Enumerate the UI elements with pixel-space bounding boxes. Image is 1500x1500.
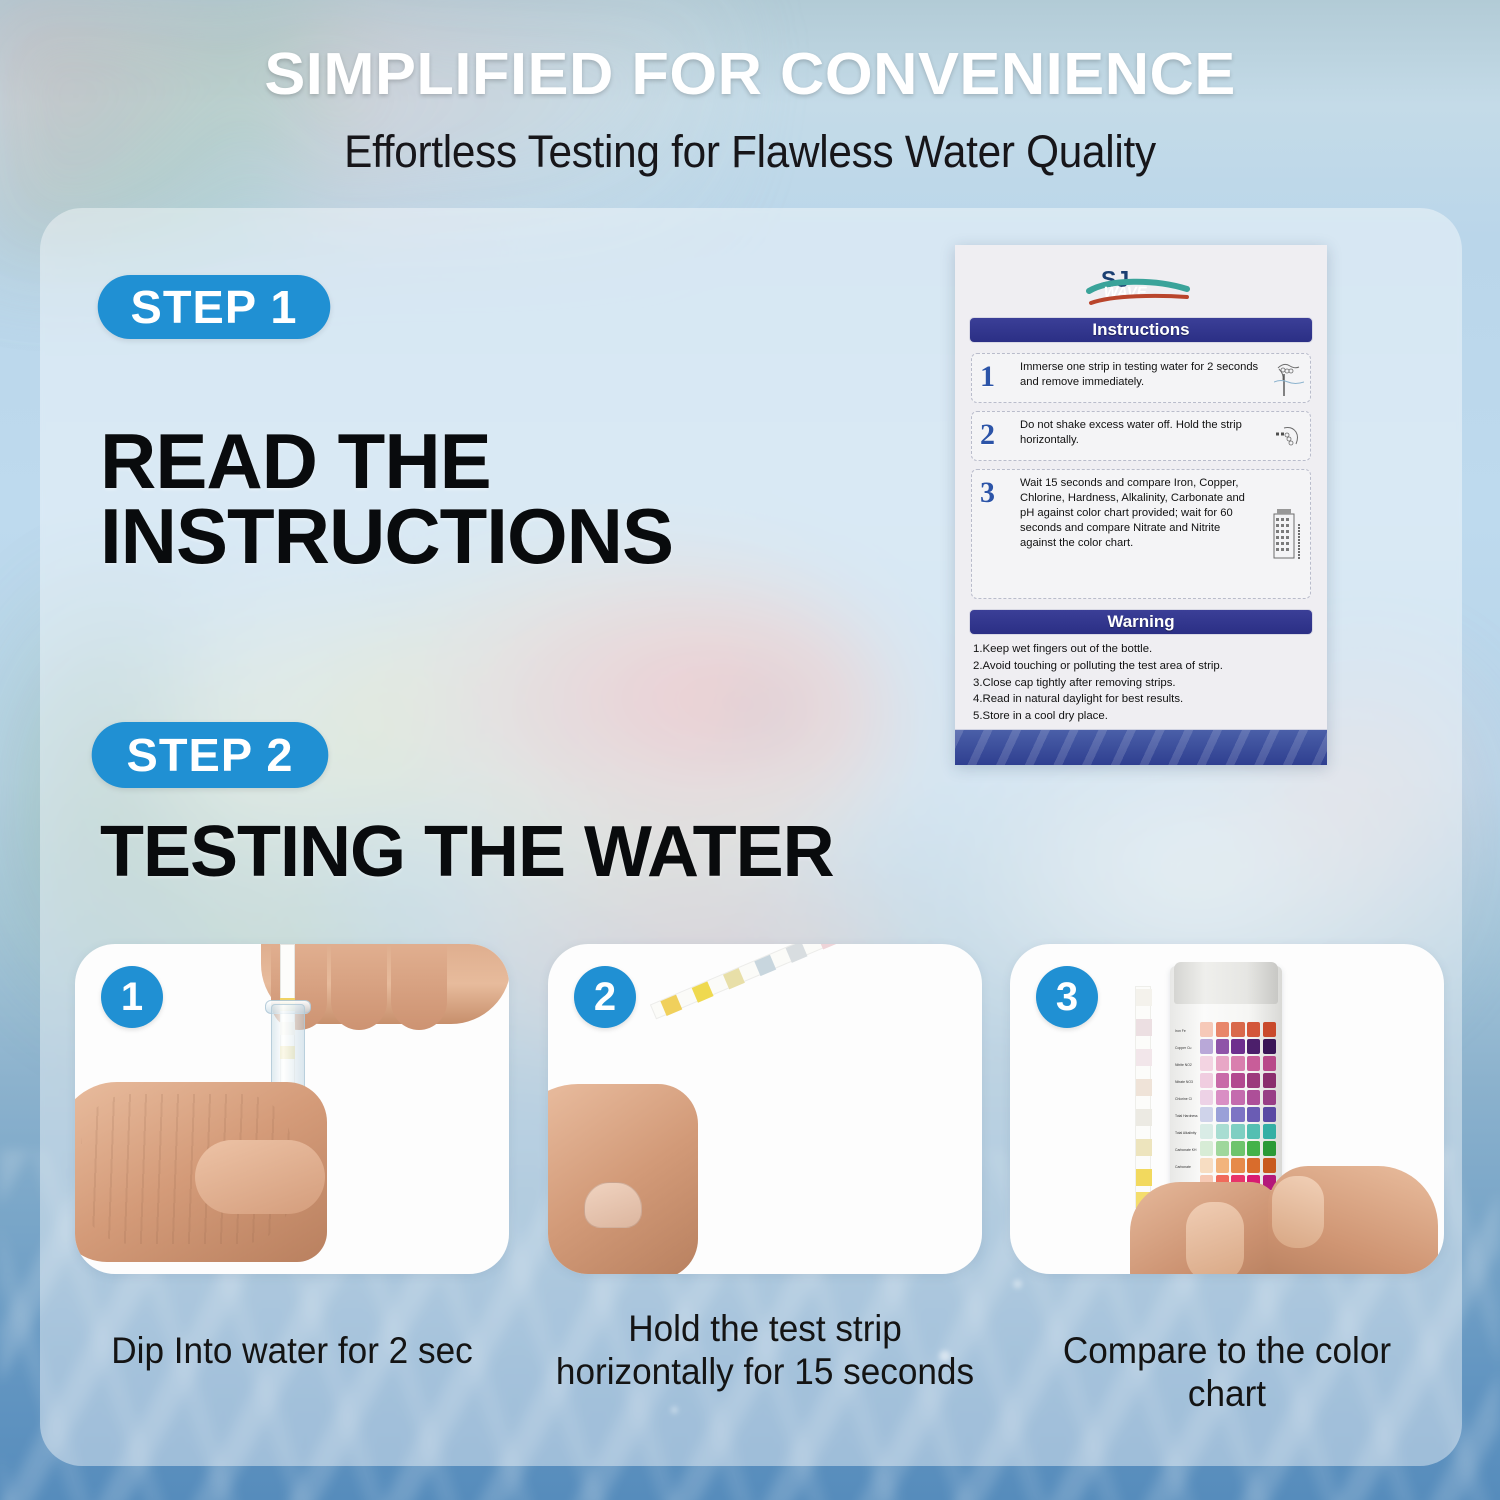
panel-2-strip-pad <box>660 995 682 1016</box>
instruction-item-1: 1 Immerse one strip in testing water for… <box>971 353 1311 403</box>
panel-3-chart-row <box>1200 1090 1276 1105</box>
warning-item: 5.Store in a cool dry place. <box>973 708 1313 725</box>
panel-3-chart-row-labels: Iron FeCopper CuNitrite NO2Nitrate NO3Ch… <box>1175 1024 1199 1192</box>
panel-3-chart-swatch <box>1216 1141 1229 1156</box>
panel-3-chart-swatch <box>1216 1124 1229 1139</box>
warning-item: 1.Keep wet fingers out of the bottle. <box>973 641 1313 658</box>
sj-wave-logo: SJ WAVE <box>1083 263 1193 311</box>
panel-3-left-thumb <box>1186 1202 1244 1274</box>
panel-1-thumb <box>195 1140 325 1214</box>
panel-3-chart-swatch <box>1216 1090 1229 1105</box>
panel-2-hand <box>548 1084 698 1274</box>
panel-3-chart-swatch <box>1231 1124 1244 1139</box>
panel-3-chart-row <box>1200 1141 1276 1156</box>
panel-1-finger <box>391 944 447 1030</box>
instruction-3-number: 3 <box>980 476 995 510</box>
panel-3-chart-row-label: Nitrite NO2 <box>1175 1058 1199 1073</box>
panel-3-chart-swatch <box>1231 1022 1244 1037</box>
panel-3-chart-swatch <box>1231 1073 1244 1088</box>
panel-3-chart-swatch <box>1231 1056 1244 1071</box>
photo-panel-2: 2 <box>548 944 982 1274</box>
panel-3-chart-row-label: Total Alkalinity <box>1175 1126 1199 1141</box>
panel-3-chart-swatch <box>1216 1039 1229 1054</box>
panel-3-chart-swatch <box>1216 1158 1229 1173</box>
panel-3-chart-swatch <box>1247 1039 1260 1054</box>
panel-3-test-strip <box>1135 986 1151 1208</box>
panel-3-chart-swatch <box>1200 1073 1213 1088</box>
panel-3-chart-row <box>1200 1107 1276 1122</box>
panel-3-chart-row-label: Copper Cu <box>1175 1041 1199 1056</box>
panel-3-chart-swatch <box>1231 1158 1244 1173</box>
step-1-badge: STEP 1 <box>98 275 331 339</box>
panel-2-caption: Hold the test strip horizontally for 15 … <box>551 1308 979 1394</box>
panel-3-chart-swatch <box>1247 1141 1260 1156</box>
leaflet-footer-band <box>955 729 1327 765</box>
panel-3-chart-swatch <box>1200 1039 1213 1054</box>
instruction-2-number: 2 <box>980 418 995 452</box>
instruction-3-text: Wait 15 seconds and compare Iron, Copper… <box>1020 476 1254 550</box>
panel-2-test-strip <box>650 944 951 1019</box>
panel-2-thumbnail <box>584 1182 642 1228</box>
panel-3-chart-swatch <box>1247 1124 1260 1139</box>
panel-3-chart-swatch <box>1231 1141 1244 1156</box>
instruction-1-number: 1 <box>980 360 995 394</box>
panel-3-chart-row <box>1200 1124 1276 1139</box>
panel-3-strip-pad <box>1136 1169 1152 1186</box>
warning-item: 4.Read in natural daylight for best resu… <box>973 691 1313 708</box>
panel-2-strip-pad <box>723 968 745 989</box>
panel-3-chart-swatch <box>1263 1056 1276 1071</box>
panel-1-finger <box>331 944 387 1030</box>
panel-3-caption: Compare to the color chart <box>1021 1330 1433 1416</box>
step-1-heading-line2: INSTRUCTIONS <box>100 499 673 574</box>
panel-3-chart-swatch <box>1247 1158 1260 1173</box>
panel-3-chart-swatch <box>1263 1039 1276 1054</box>
panel-1-number: 1 <box>101 966 163 1028</box>
panel-3-chart-row-label: Nitrate NO3 <box>1175 1075 1199 1090</box>
warning-item: 3.Close cap tightly after removing strip… <box>973 675 1313 692</box>
panel-3-chart-swatch <box>1231 1039 1244 1054</box>
step-2-heading: TESTING THE WATER <box>100 818 834 887</box>
panel-3-chart-swatch <box>1263 1141 1276 1156</box>
panel-3-chart-swatch <box>1200 1141 1213 1156</box>
panel-3-chart-swatch <box>1247 1090 1260 1105</box>
panel-3-chart-row <box>1200 1056 1276 1071</box>
panel-3-chart-row-label: Chlorine Cl <box>1175 1092 1199 1107</box>
panel-3-strip-pad <box>1136 1109 1152 1126</box>
panel-3-chart-swatch <box>1231 1107 1244 1122</box>
instruction-2-text: Do not shake excess water off. Hold the … <box>1020 418 1276 448</box>
panel-3-chart-swatch <box>1247 1056 1260 1071</box>
panel-3-strip-pad <box>1136 1139 1152 1156</box>
hand-holding-strip-icon <box>1274 418 1304 458</box>
panel-3-chart-row <box>1200 1039 1276 1054</box>
photo-panel-1: 1 <box>75 944 509 1274</box>
panel-3-chart-swatch <box>1200 1056 1213 1071</box>
panel-3-chart-swatch <box>1263 1124 1276 1139</box>
panel-3-strip-pad <box>1136 1049 1152 1066</box>
panel-3-chart-swatch <box>1247 1073 1260 1088</box>
warning-header: Warning <box>969 609 1313 635</box>
panel-3-chart-swatch <box>1247 1022 1260 1037</box>
panel-3-chart-swatch <box>1247 1107 1260 1122</box>
header-banner: SIMPLIFIED FOR CONVENIENCE <box>0 30 1500 118</box>
photo-panel-3: 3 Iron FeCopper CuNitrite NO2Nitrate NO3… <box>1010 944 1444 1274</box>
panel-3-chart-swatch <box>1263 1022 1276 1037</box>
panel-3-chart-swatch <box>1200 1090 1213 1105</box>
instruction-item-2: 2 Do not shake excess water off. Hold th… <box>971 411 1311 461</box>
panel-3-strip-pad <box>1136 1019 1152 1036</box>
panel-3-chart-row-label: Total Hardness <box>1175 1109 1199 1124</box>
panel-3-chart-swatch <box>1200 1158 1213 1173</box>
panel-3-chart-row <box>1200 1073 1276 1088</box>
panel-3-chart-swatch <box>1200 1124 1213 1139</box>
panel-2-strip-pad <box>817 944 839 950</box>
panel-3-number: 3 <box>1036 966 1098 1028</box>
panel-2-strip-pad <box>754 955 776 976</box>
panel-3-chart-swatch <box>1216 1022 1229 1037</box>
panel-3-chart-row-label: Iron Fe <box>1175 1024 1199 1039</box>
panel-3-strip-pad <box>1136 1079 1152 1096</box>
page-title: SIMPLIFIED FOR CONVENIENCE <box>264 40 1236 108</box>
step-2-badge: STEP 2 <box>92 722 329 788</box>
panel-1-caption: Dip Into water for 2 sec <box>86 1330 498 1373</box>
page-subtitle: Effortless Testing for Flawless Water Qu… <box>45 126 1455 178</box>
panel-3-chart-row <box>1200 1158 1276 1173</box>
panel-3-chart-swatch <box>1216 1107 1229 1122</box>
panel-3-chart-swatch <box>1200 1107 1213 1122</box>
panel-2-strip-pad <box>786 944 808 963</box>
warning-item: 2.Avoid touching or polluting the test a… <box>973 658 1313 675</box>
panel-3-chart-swatch <box>1263 1090 1276 1105</box>
panel-2-strip-pad <box>692 981 714 1002</box>
warning-list: 1.Keep wet fingers out of the bottle. 2.… <box>973 641 1313 725</box>
panel-2-number: 2 <box>574 966 636 1028</box>
instructions-header: Instructions <box>969 317 1313 343</box>
panel-3-chart-swatch <box>1263 1107 1276 1122</box>
color-chart-bottle-icon <box>1270 508 1304 568</box>
panel-3-chart-row-label: Carbonate <box>1175 1160 1199 1175</box>
panel-3-chart-swatch <box>1263 1158 1276 1173</box>
panel-3-chart-swatch <box>1200 1022 1213 1037</box>
hand-dipping-strip-icon <box>1274 360 1304 400</box>
panel-3-chart-row-label: Carbonate KH <box>1175 1143 1199 1158</box>
panel-3-strip-pad <box>1136 989 1152 1006</box>
panel-3-bottle-cap <box>1174 962 1278 1004</box>
instruction-leaflet: SJ WAVE Instructions 1 Immerse one strip… <box>955 245 1327 765</box>
step-1-heading: READ THE INSTRUCTIONS <box>100 424 673 574</box>
panel-3-chart-swatch <box>1216 1073 1229 1088</box>
panel-3-chart-swatch <box>1216 1056 1229 1071</box>
panel-3-chart-swatch <box>1263 1073 1276 1088</box>
panel-3-chart-row <box>1200 1022 1276 1037</box>
panel-3-chart-swatch <box>1231 1090 1244 1105</box>
instruction-item-3: 3 Wait 15 seconds and compare Iron, Copp… <box>971 469 1311 599</box>
instruction-1-text: Immerse one strip in testing water for 2… <box>1020 360 1276 390</box>
panel-3-right-thumb <box>1272 1176 1324 1248</box>
